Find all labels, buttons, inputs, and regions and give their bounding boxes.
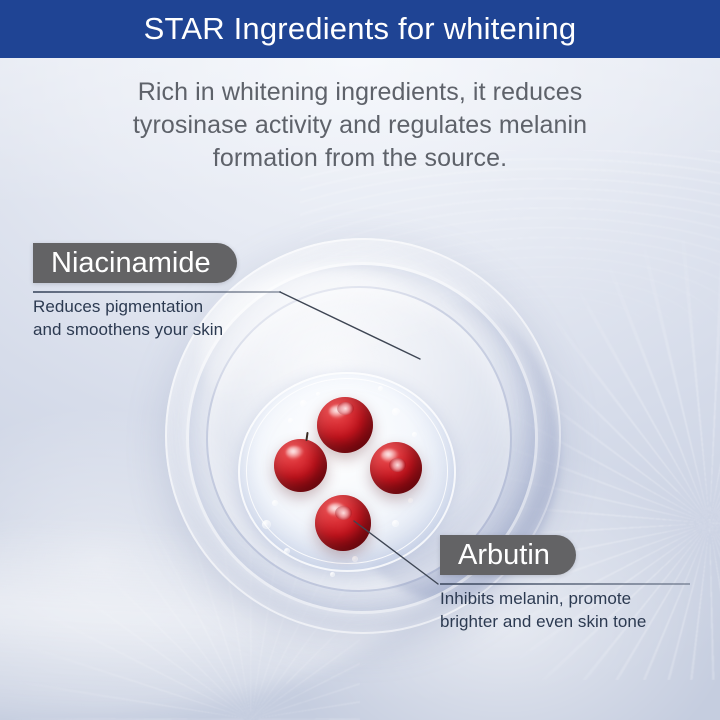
gel-bubble: [316, 392, 320, 396]
infographic-canvas: STAR Ingredients for whitening Rich in w…: [0, 0, 720, 720]
gel-bubble: [412, 432, 417, 437]
callout-rule-niacinamide: [33, 291, 281, 293]
gel-bubble: [300, 400, 307, 407]
subtitle-line-1: Rich in whitening ingredients, it reduce…: [0, 76, 720, 109]
page-title: STAR Ingredients for whitening: [144, 11, 577, 47]
gel-bubble: [378, 386, 383, 391]
callout-rule-arbutin: [440, 583, 690, 585]
callout-desc-line-1: Reduces pigmentation: [33, 295, 223, 318]
callout-badge-label-arbutin: Arbutin: [458, 541, 550, 570]
bead-calyx: [335, 506, 352, 520]
gel-bubble: [352, 556, 358, 562]
callout-badge-arbutin[interactable]: Arbutin: [440, 535, 576, 575]
callout-description-niacinamide: Reduces pigmentation and smoothens your …: [33, 295, 223, 341]
gel-bubble: [392, 520, 399, 527]
ingredient-bead-bottom: [315, 495, 371, 551]
gel-bubble: [330, 572, 335, 577]
callout-desc-line-1: Inhibits melanin, promote: [440, 587, 646, 610]
bead-calyx: [389, 458, 406, 472]
callout-description-arbutin: Inhibits melanin, promote brighter and e…: [440, 587, 646, 633]
gel-bubble: [408, 498, 413, 503]
subtitle-block: Rich in whitening ingredients, it reduce…: [0, 76, 720, 175]
gel-bubble: [262, 520, 271, 529]
gel-bubble: [272, 500, 278, 506]
gel-bubble: [392, 408, 400, 416]
callout-desc-line-2: brighter and even skin tone: [440, 610, 646, 633]
subtitle-line-2: tyrosinase activity and regulates melani…: [0, 109, 720, 142]
bead-calyx: [337, 402, 354, 415]
ingredient-bead-left: [274, 439, 327, 492]
callout-badge-niacinamide[interactable]: Niacinamide: [33, 243, 237, 283]
gel-bubble: [288, 418, 293, 423]
header-band: STAR Ingredients for whitening: [0, 0, 720, 58]
callout-desc-line-2: and smoothens your skin: [33, 318, 223, 341]
gel-bubble: [284, 548, 290, 554]
subtitle-line-3: formation from the source.: [0, 142, 720, 175]
callout-badge-label-niacinamide: Niacinamide: [51, 249, 211, 278]
